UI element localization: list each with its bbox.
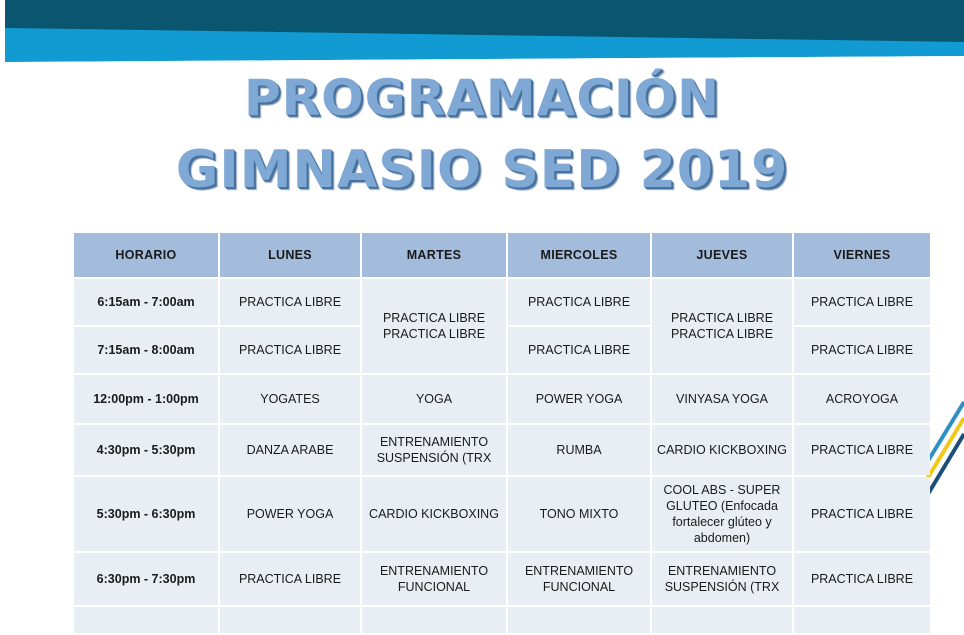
cell-martes-merged: PRACTICA LIBRE PRACTICA LIBRE: [362, 279, 506, 373]
column-header-jueves: JUEVES: [652, 233, 792, 277]
table-row: 5:30pm - 6:30pm POWER YOGA CARDIO KICKBO…: [74, 477, 930, 551]
schedule-table-container: HORARIO LUNES MARTES MIERCOLES JUEVES VI…: [72, 231, 920, 635]
cell-jueves: COOL ABS - SUPER GLUTEO (Enfocada fortal…: [652, 477, 792, 551]
schedule-table: HORARIO LUNES MARTES MIERCOLES JUEVES VI…: [72, 231, 932, 635]
cell-lunes: PRACTICA LIBRE: [220, 279, 360, 325]
cell-lunes: DANZA ARABE: [220, 425, 360, 475]
table-header-row: HORARIO LUNES MARTES MIERCOLES JUEVES VI…: [74, 233, 930, 277]
cell-viernes: ACROYOGA: [794, 375, 930, 423]
cell-jueves: ENTRENAMIENTO SUSPENSIÓN (TRX: [652, 553, 792, 605]
cell-time: [74, 607, 218, 633]
cell-viernes: PRACTICA LIBRE: [794, 553, 930, 605]
table-row-partial: [74, 607, 930, 633]
cell-miercoles: TONO MIXTO: [508, 477, 650, 551]
table-row: 12:00pm - 1:00pm YOGATES YOGA POWER YOGA…: [74, 375, 930, 423]
banner-light-shape: [5, 28, 964, 62]
banner-taper-shape: [5, 46, 964, 62]
cell-lunes: POWER YOGA: [220, 477, 360, 551]
cell-time: 7:15am - 8:00am: [74, 327, 218, 373]
page-title: PROGRAMACIÓN GIMNASIO SED 2019: [0, 62, 964, 206]
cell-lunes: [220, 607, 360, 633]
cell-martes: CARDIO KICKBOXING: [362, 477, 506, 551]
cell-miercoles: POWER YOGA: [508, 375, 650, 423]
title-line-2: GIMNASIO SED 2019: [0, 134, 964, 206]
cell-lunes: PRACTICA LIBRE: [220, 327, 360, 373]
column-header-viernes: VIERNES: [794, 233, 930, 277]
cell-viernes: PRACTICA LIBRE: [794, 327, 930, 373]
cell-jueves: VINYASA YOGA: [652, 375, 792, 423]
banner-white-cut: [0, 0, 5, 62]
cell-miercoles: PRACTICA LIBRE: [508, 279, 650, 325]
cell-viernes: PRACTICA LIBRE: [794, 425, 930, 475]
cell-miercoles: PRACTICA LIBRE: [508, 327, 650, 373]
cell-time: 12:00pm - 1:00pm: [74, 375, 218, 423]
cell-time: 6:15am - 7:00am: [74, 279, 218, 325]
cell-lunes: PRACTICA LIBRE: [220, 553, 360, 605]
title-line-1: PROGRAMACIÓN: [0, 62, 964, 134]
cell-jueves-merged: PRACTICA LIBRE PRACTICA LIBRE: [652, 279, 792, 373]
cell-jueves: [652, 607, 792, 633]
cell-martes: YOGA: [362, 375, 506, 423]
table-row: 4:30pm - 5:30pm DANZA ARABE ENTRENAMIENT…: [74, 425, 930, 475]
cell-martes: [362, 607, 506, 633]
table-row: 6:30pm - 7:30pm PRACTICA LIBRE ENTRENAMI…: [74, 553, 930, 605]
cell-lunes: YOGATES: [220, 375, 360, 423]
cell-miercoles: [508, 607, 650, 633]
column-header-lunes: LUNES: [220, 233, 360, 277]
cell-time: 6:30pm - 7:30pm: [74, 553, 218, 605]
cell-martes: ENTRENAMIENTO SUSPENSIÓN (TRX: [362, 425, 506, 475]
cell-miercoles: RUMBA: [508, 425, 650, 475]
column-header-martes: MARTES: [362, 233, 506, 277]
cell-time: 4:30pm - 5:30pm: [74, 425, 218, 475]
banner-dark-shape: [5, 0, 964, 46]
column-header-horario: HORARIO: [74, 233, 218, 277]
cell-viernes: [794, 607, 930, 633]
cell-jueves: CARDIO KICKBOXING: [652, 425, 792, 475]
cell-viernes: PRACTICA LIBRE: [794, 279, 930, 325]
table-row: 6:15am - 7:00am PRACTICA LIBRE PRACTICA …: [74, 279, 930, 325]
cell-miercoles: ENTRENAMIENTO FUNCIONAL: [508, 553, 650, 605]
cell-time: 5:30pm - 6:30pm: [74, 477, 218, 551]
stripe-navy: [928, 434, 964, 494]
column-header-miercoles: MIERCOLES: [508, 233, 650, 277]
cell-viernes: PRACTICA LIBRE: [794, 477, 930, 551]
cell-martes: ENTRENAMIENTO FUNCIONAL: [362, 553, 506, 605]
